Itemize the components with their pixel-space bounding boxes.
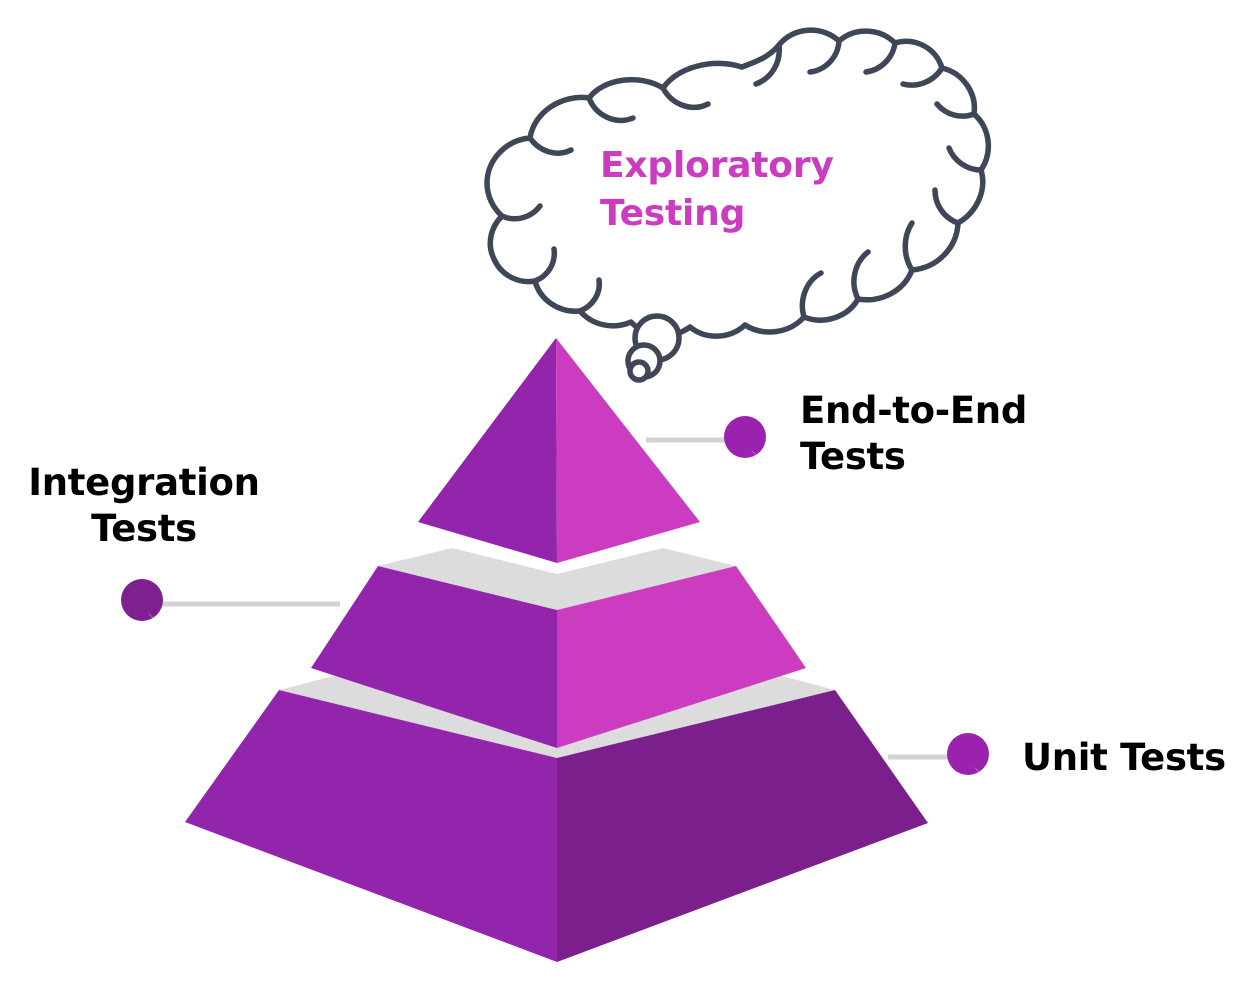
callout-label-end-to-end: End-to-End Tests (800, 388, 1027, 479)
bubble-tail-circle-small (630, 362, 648, 380)
callout-label-integration: Integration Tests (14, 460, 274, 551)
callout-label-unit: Unit Tests (1022, 735, 1226, 781)
thought-bubble-text: Exploratory Testing (600, 142, 900, 237)
diagram-canvas: Exploratory Testing End-to-End Tests Int… (0, 0, 1258, 1000)
